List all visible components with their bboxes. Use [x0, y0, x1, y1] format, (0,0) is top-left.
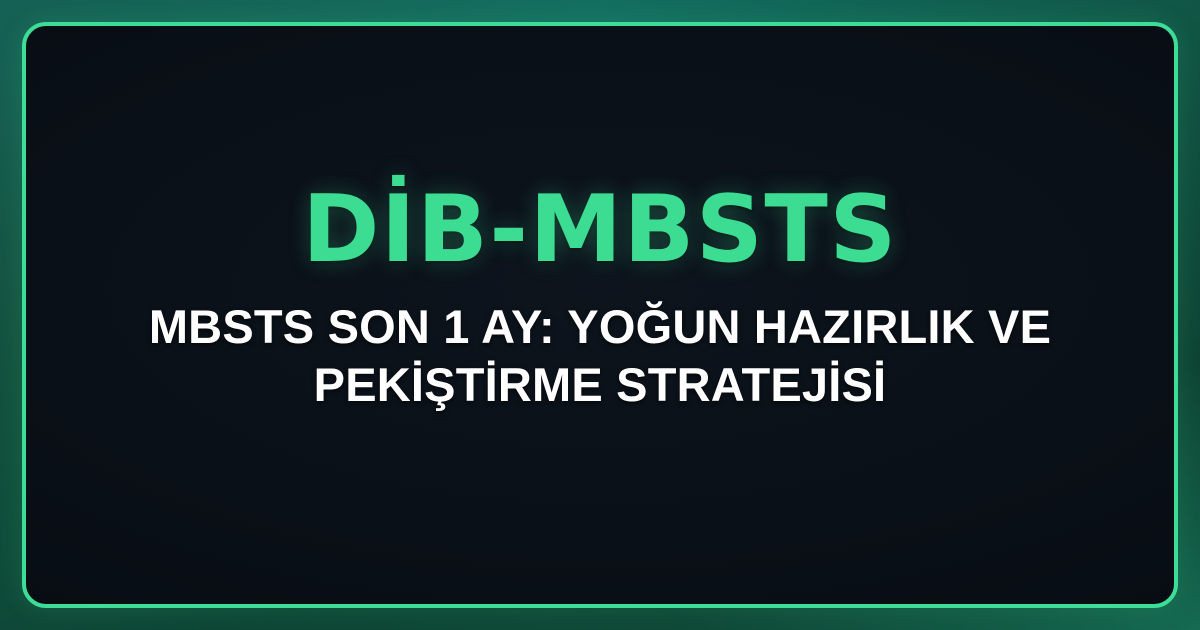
headline: MBSTS SON 1 AY: YOĞUN HAZIRLIK VE PEKİŞT…	[149, 298, 1051, 413]
social-share-card: DİB-MBSTS MBSTS SON 1 AY: YOĞUN HAZIRLIK…	[0, 0, 1200, 630]
card-content-stack: DİB-MBSTS MBSTS SON 1 AY: YOĞUN HAZIRLIK…	[26, 183, 1174, 413]
brand-title: DİB-MBSTS	[302, 183, 898, 276]
headline-line-1: MBSTS SON 1 AY: YOĞUN HAZIRLIK VE	[149, 298, 1051, 355]
card-inner-panel: DİB-MBSTS MBSTS SON 1 AY: YOĞUN HAZIRLIK…	[22, 22, 1178, 608]
headline-line-2: PEKİŞTİRME STRATEJİSİ	[149, 356, 1051, 413]
